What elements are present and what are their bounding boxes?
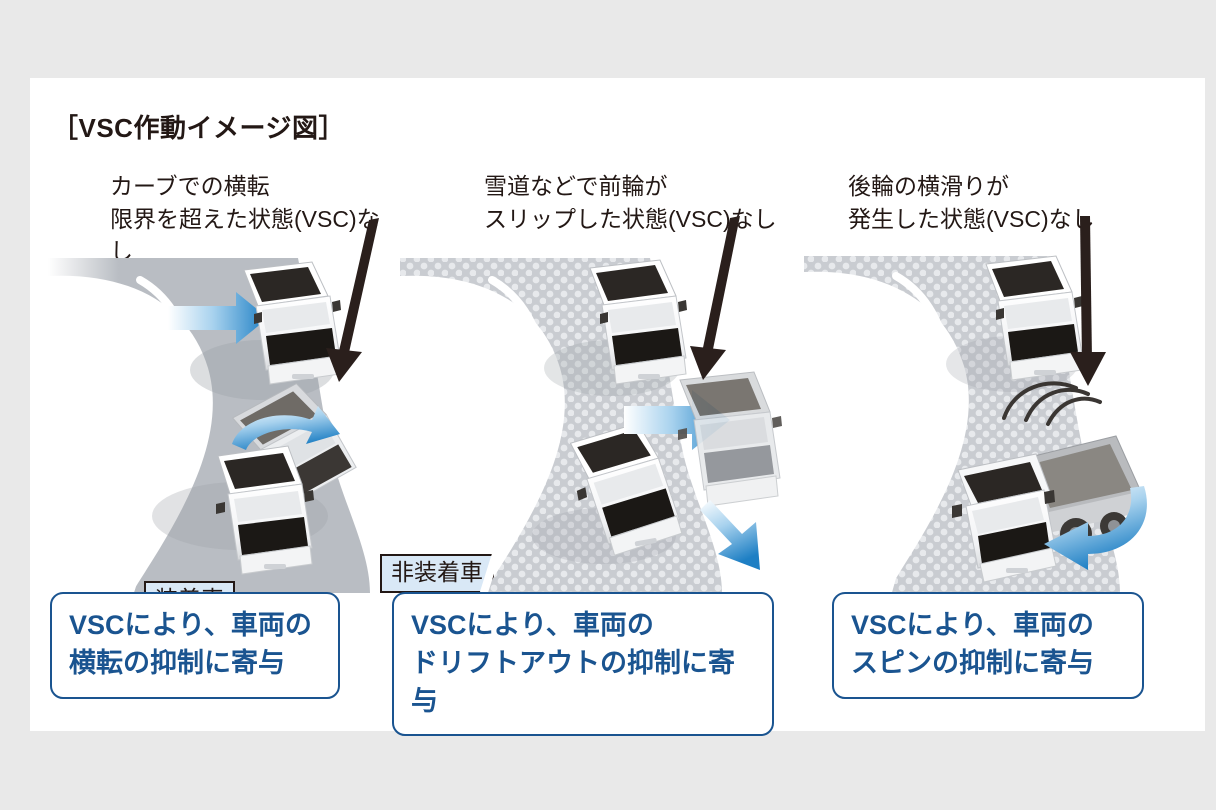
result-box-spin: VSCにより、車両の スピンの抑制に寄与: [832, 592, 1144, 699]
illustration-spin: [800, 248, 1170, 593]
panel-caption: 後輪の横滑りが 発生した状態(VSC)なし: [848, 170, 1095, 235]
result-box-drift-out: VSCにより、車両の ドリフトアウトの抑制に寄与: [392, 592, 774, 736]
page-title: ［VSC作動イメージ図］: [52, 108, 345, 145]
illustration-rollover: [40, 248, 400, 593]
result-box-rollover: VSCにより、車両の 横転の抑制に寄与: [50, 592, 340, 699]
illustration-drift-out: [392, 248, 792, 593]
figure-canvas: ［VSC作動イメージ図］ カーブでの横転 限界を超えた状態(VSC)なし: [0, 0, 1216, 810]
pointer-arrow-dark: [690, 216, 740, 380]
